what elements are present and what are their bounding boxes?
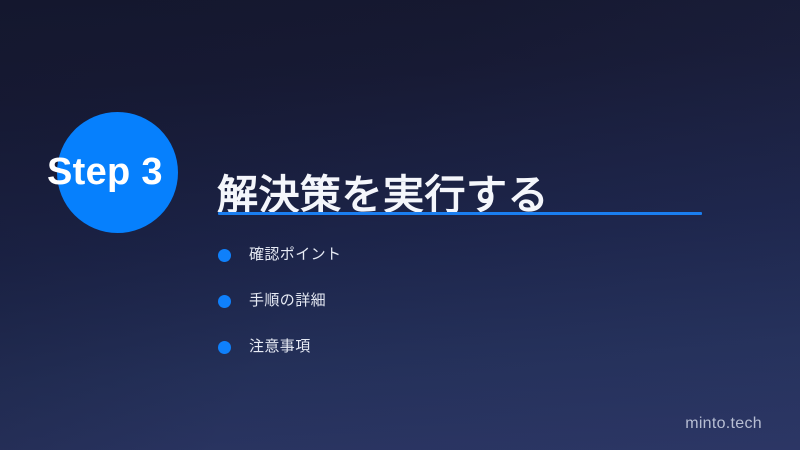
bullet-list: 確認ポイント 手順の詳細 注意事項 — [218, 232, 341, 370]
bullet-dot-icon — [218, 249, 231, 262]
list-item: 注意事項 — [218, 324, 341, 370]
footer-brand-label: minto.tech — [685, 414, 762, 434]
bullet-item-label: 注意事項 — [249, 337, 311, 357]
title-divider — [218, 212, 702, 215]
bullet-item-label: 手順の詳細 — [249, 291, 326, 311]
presentation-slide: Step 3 解決策を実行する 確認ポイント 手順の詳細 注意事項 minto.… — [0, 0, 800, 450]
bullet-dot-icon — [218, 341, 231, 354]
list-item: 確認ポイント — [218, 232, 341, 278]
bullet-item-label: 確認ポイント — [249, 245, 341, 265]
bullet-dot-icon — [218, 295, 231, 308]
list-item: 手順の詳細 — [218, 278, 341, 324]
step-number-label: Step 3 — [47, 152, 163, 192]
